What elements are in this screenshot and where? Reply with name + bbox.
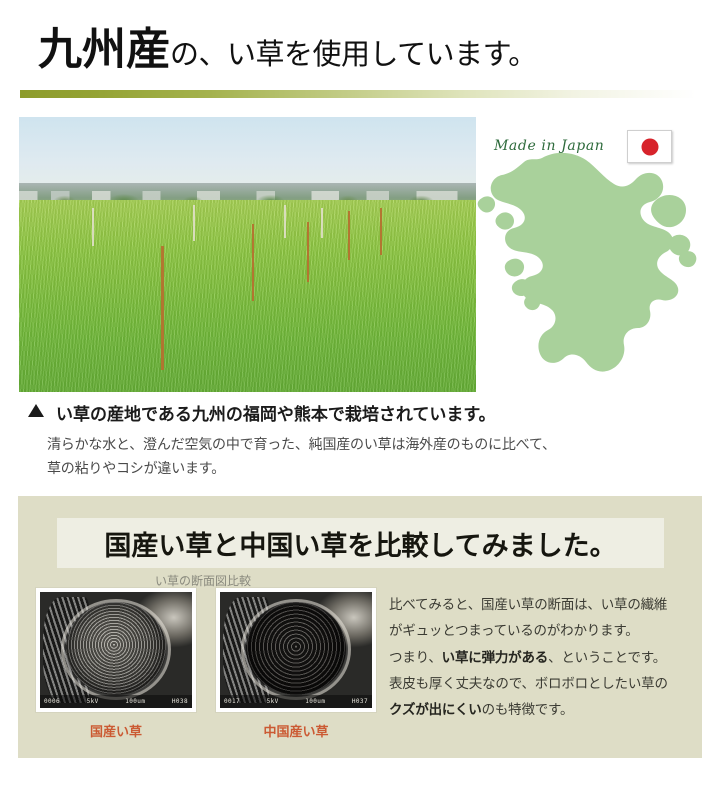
sem-chinese-label: 中国産い草 <box>216 721 376 740</box>
photo-stake <box>193 205 195 241</box>
sem-scale-id: H037 <box>352 698 368 705</box>
line-prefix: つまり、 <box>389 650 442 665</box>
emphasis-elasticity: い草に弾力がある <box>442 650 548 665</box>
line-suffix: 、ということです。 <box>548 650 666 665</box>
sem-chinese-frame: 0017 5kV 100um H037 <box>216 588 376 712</box>
comparison-heading: 国産い草と中国い草を比較してみました。 <box>104 524 616 563</box>
comparison-body-text: 比べてみると、国産い草の断面は、い草の繊維 がギュッとつまっているのがわかります… <box>389 592 689 724</box>
field-caption-row: い草の産地である九州の福岡や熊本で栽培されています。 <box>28 400 496 425</box>
sem-scale-overlay: 0017 5kV 100um H037 <box>220 695 372 708</box>
kyushu-island-map <box>470 140 710 400</box>
comparison-heading-band: 国産い草と中国い草を比較してみました。 <box>57 518 664 568</box>
sem-image-pair: 0006 5kV 100um H038 国産い草 <box>36 588 376 740</box>
sem-outer-rim <box>241 599 350 700</box>
photo-stake <box>252 224 254 301</box>
photo-stake <box>92 208 94 247</box>
sem-scale-overlay: 0006 5kV 100um H038 <box>40 695 192 708</box>
triangle-up-icon <box>28 404 44 417</box>
made-in-japan-block: Made in Japan <box>470 120 710 400</box>
field-caption-body: 清らかな水と、澄んだ空気の中で育った、純国産のい草は海外産のものに比べて、 草の… <box>47 432 607 480</box>
photo-stake <box>161 246 164 370</box>
field-caption-body-line2: 草の粘りやコシが違います。 <box>47 456 607 480</box>
flag-sun-disc <box>641 138 658 155</box>
comparison-body-line: がギュッとつまっているのがわかります。 <box>389 618 689 644</box>
photo-rush-field <box>19 200 476 393</box>
photo-stake <box>380 208 382 255</box>
sem-chinese-item: 0017 5kV 100um H037 中国産い草 <box>216 588 376 740</box>
comparison-body-line: つまり、い草に弾力がある、ということです。 <box>389 645 689 671</box>
comparison-body-line: クズが出にくいのも特徴です。 <box>389 697 689 723</box>
japan-flag-icon <box>627 130 672 163</box>
photo-stake <box>321 208 323 238</box>
sem-domestic-image: 0006 5kV 100um H038 <box>40 592 192 708</box>
page-title: 九州産の、い草を使用しています。 <box>38 28 537 72</box>
header-divider <box>20 90 696 98</box>
sem-outer-rim <box>61 599 170 700</box>
emphasis-no-debris: クズが出にくい <box>389 702 482 717</box>
comparison-panel: 国産い草と中国い草を比較してみました。 い草の断面図比較 0006 5kV 10… <box>18 496 702 758</box>
sem-scale-mid: 5kV <box>87 698 99 705</box>
product-feature-page: 九州産の、い草を使用しています。 Made in Japan <box>0 0 720 786</box>
sem-scale-mid: 5kV <box>267 698 279 705</box>
cross-section-caption: い草の断面図比較 <box>38 572 368 589</box>
field-caption-body-line1: 清らかな水と、澄んだ空気の中で育った、純国産のい草は海外産のものに比べて、 <box>47 432 607 456</box>
sem-domestic-label: 国産い草 <box>36 721 196 740</box>
photo-stake <box>284 205 286 238</box>
sem-scale-id: H038 <box>172 698 188 705</box>
line-suffix: のも特徴です。 <box>482 702 574 717</box>
field-caption-headline: い草の産地である九州の福岡や熊本で栽培されています。 <box>56 400 496 425</box>
sem-scale-left: 0006 <box>44 698 60 705</box>
sem-scale-left: 0017 <box>224 698 240 705</box>
sem-scale-right: 100um <box>125 698 145 705</box>
made-in-japan-label: Made in Japan <box>494 138 604 154</box>
igusa-field-photo <box>19 117 476 392</box>
page-title-rest: の、い草を使用しています。 <box>170 39 537 71</box>
comparison-body-line: 表皮も厚く丈夫なので、ボロボロとしたい草の <box>389 671 689 697</box>
comparison-body-line: 比べてみると、国産い草の断面は、い草の繊維 <box>389 592 689 618</box>
sem-chinese-image: 0017 5kV 100um H037 <box>220 592 372 708</box>
sem-domestic-item: 0006 5kV 100um H038 国産い草 <box>36 588 196 740</box>
photo-stake <box>307 222 309 283</box>
sem-domestic-frame: 0006 5kV 100um H038 <box>36 588 196 712</box>
page-title-strong: 九州産 <box>38 25 170 74</box>
photo-stake <box>348 211 350 261</box>
sem-scale-right: 100um <box>305 698 325 705</box>
